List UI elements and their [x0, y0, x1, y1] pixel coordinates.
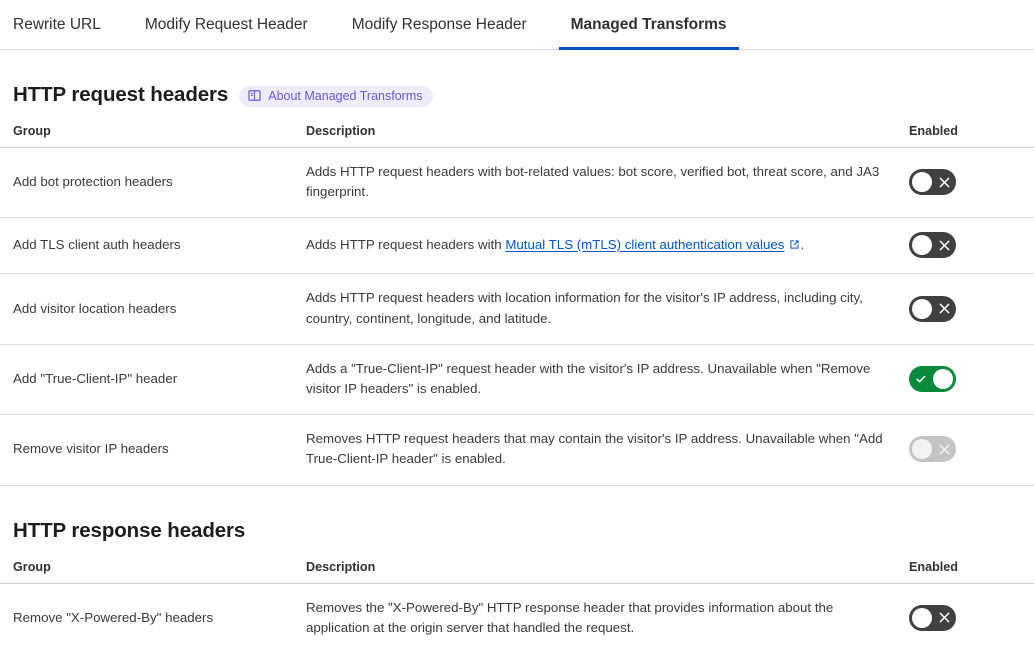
toggle-add-visitor-location-headers[interactable] [909, 296, 956, 322]
section-header: HTTP request headers About Managed Trans… [0, 83, 1034, 107]
row-group-label: Remove "X-Powered-By" headers [0, 583, 306, 653]
column-header-enabled: Enabled [909, 560, 1034, 584]
close-icon [932, 605, 956, 631]
column-header-group: Group [0, 560, 306, 584]
row-description: Adds HTTP request headers with Mutual TL… [306, 218, 909, 274]
row-group-label: Remove visitor IP headers [0, 415, 306, 485]
description-text-after: . [800, 237, 804, 252]
section-title-response: HTTP response headers [13, 519, 245, 543]
toggle-add-true-client-ip-header[interactable] [909, 366, 956, 392]
tab-modify-response-header[interactable]: Modify Response Header [352, 0, 527, 49]
close-icon [932, 436, 956, 462]
tab-bar: Rewrite URL Modify Request Header Modify… [0, 0, 1034, 50]
toggle-knob [912, 299, 932, 319]
row-enabled-cell [909, 415, 1034, 485]
table-header-row: Group Description Enabled [0, 560, 1034, 584]
book-icon [248, 89, 261, 102]
row-enabled-cell [909, 148, 1034, 218]
tab-managed-transforms[interactable]: Managed Transforms [571, 0, 727, 49]
row-description: Adds a "True-Client-IP" request header w… [306, 344, 909, 414]
table-row: Add "True-Client-IP" header Adds a "True… [0, 344, 1034, 414]
toggle-knob [933, 369, 953, 389]
toggle-remove-x-powered-by-headers[interactable] [909, 605, 956, 631]
tab-modify-request-header[interactable]: Modify Request Header [145, 0, 308, 49]
about-managed-transforms-badge[interactable]: About Managed Transforms [239, 86, 433, 107]
badge-label: About Managed Transforms [268, 89, 422, 103]
close-icon [932, 296, 956, 322]
row-description: Adds HTTP request headers with bot-relat… [306, 148, 909, 218]
check-icon [909, 366, 933, 392]
column-header-description: Description [306, 560, 909, 584]
toggle-remove-visitor-ip-headers [909, 436, 956, 462]
close-icon [932, 232, 956, 258]
mtls-documentation-link[interactable]: Mutual TLS (mTLS) client authentication … [505, 237, 784, 252]
row-enabled-cell [909, 344, 1034, 414]
toggle-knob [912, 235, 932, 255]
table-row: Add TLS client auth headers Adds HTTP re… [0, 218, 1034, 274]
external-link-icon[interactable] [789, 236, 800, 256]
row-description: Removes HTTP request headers that may co… [306, 415, 909, 485]
section-http-request-headers: HTTP request headers About Managed Trans… [0, 83, 1034, 486]
row-description: Removes the "X-Powered-By" HTTP response… [306, 583, 909, 653]
section-header: HTTP response headers [0, 519, 1034, 543]
row-group-label: Add visitor location headers [0, 274, 306, 344]
toggle-knob [912, 439, 932, 459]
section-http-response-headers: HTTP response headers Group Description … [0, 519, 1034, 653]
column-header-group: Group [0, 124, 306, 148]
table-row: Remove visitor IP headers Removes HTTP r… [0, 415, 1034, 485]
close-icon [932, 169, 956, 195]
toggle-knob [912, 608, 932, 628]
row-group-label: Add "True-Client-IP" header [0, 344, 306, 414]
row-group-label: Add bot protection headers [0, 148, 306, 218]
column-header-description: Description [306, 124, 909, 148]
row-enabled-cell [909, 274, 1034, 344]
column-header-enabled: Enabled [909, 124, 1034, 148]
row-enabled-cell [909, 218, 1034, 274]
table-row: Remove "X-Powered-By" headers Removes th… [0, 583, 1034, 653]
toggle-knob [912, 172, 932, 192]
response-headers-table: Group Description Enabled Remove "X-Powe… [0, 560, 1034, 653]
page-title: HTTP request headers [13, 83, 228, 107]
toggle-add-tls-client-auth-headers[interactable] [909, 232, 956, 258]
row-description: Adds HTTP request headers with location … [306, 274, 909, 344]
row-enabled-cell [909, 583, 1034, 653]
description-text-before: Adds HTTP request headers with [306, 237, 505, 252]
toggle-add-bot-protection-headers[interactable] [909, 169, 956, 195]
table-row: Add bot protection headers Adds HTTP req… [0, 148, 1034, 218]
table-row: Add visitor location headers Adds HTTP r… [0, 274, 1034, 344]
row-group-label: Add TLS client auth headers [0, 218, 306, 274]
tab-rewrite-url[interactable]: Rewrite URL [13, 0, 101, 49]
table-header-row: Group Description Enabled [0, 124, 1034, 148]
request-headers-table: Group Description Enabled Add bot protec… [0, 124, 1034, 486]
